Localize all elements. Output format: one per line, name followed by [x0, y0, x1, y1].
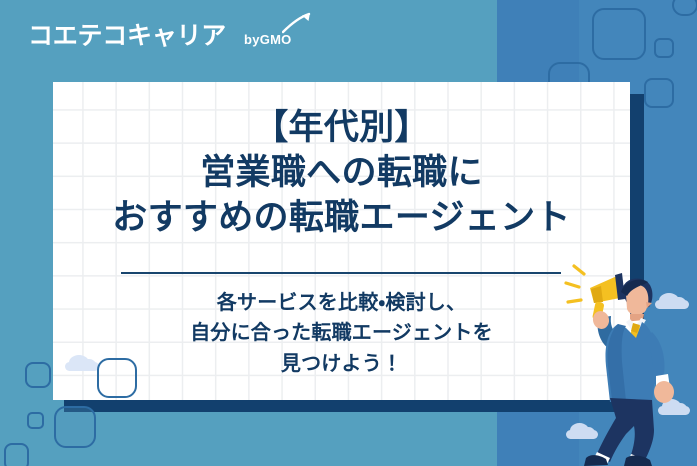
promotional-banner: 【年代別】 営業職への転職に おすすめの転職エージェント 各サービスを比較・検討…	[0, 0, 697, 466]
decor-square-top-right-large	[592, 8, 646, 60]
content-card: 【年代別】 営業職への転職に おすすめの転職エージェント 各サービスを比較・検討…	[53, 82, 630, 400]
subtitle-line-2: 自分に合った転職エージェントを	[53, 318, 630, 348]
decor-square-left-lower	[4, 443, 29, 466]
arrow-up-right-icon	[282, 12, 312, 34]
trousers	[596, 398, 654, 462]
decor-square-left-tiny	[27, 412, 44, 429]
brand-name: コエテコキャリア	[28, 24, 226, 49]
decor-square-top-right-tiny	[654, 38, 674, 58]
card-shadow-bottom	[64, 398, 642, 412]
brand-logo[interactable]: コエテコキャリア byGMO	[28, 24, 292, 49]
brand-by-gmo: byGMO	[244, 32, 292, 49]
decor-square-card-left	[54, 406, 96, 448]
title-line-3: おすすめの転職エージェント	[53, 196, 630, 241]
title-line-1: 【年代別】	[53, 106, 630, 151]
businessman-with-megaphone-illustration	[560, 262, 697, 466]
subtitle: 各サービスを比較・検討し、 自分に合った転職エージェントを 見つけよう！	[53, 288, 630, 379]
title-line-2: 営業職への転職に	[53, 151, 630, 196]
page-title: 【年代別】 営業職への転職に おすすめの転職エージェント	[53, 106, 630, 240]
decor-square-top-right-small	[672, 0, 697, 16]
subtitle-line-1: 各サービスを比較・検討し、	[53, 288, 630, 318]
decor-square-card-inner	[97, 358, 137, 398]
subtitle-line-3: 見つけよう！	[53, 349, 630, 379]
decor-square-left-upper	[25, 362, 51, 388]
hand-right	[654, 381, 674, 403]
nose-shadow	[646, 302, 652, 308]
sound-wave-lines	[566, 266, 584, 302]
title-divider	[121, 272, 561, 274]
shoe-right	[624, 456, 652, 466]
cloud-card-left	[65, 362, 99, 371]
decor-square-right-mid	[644, 78, 674, 108]
